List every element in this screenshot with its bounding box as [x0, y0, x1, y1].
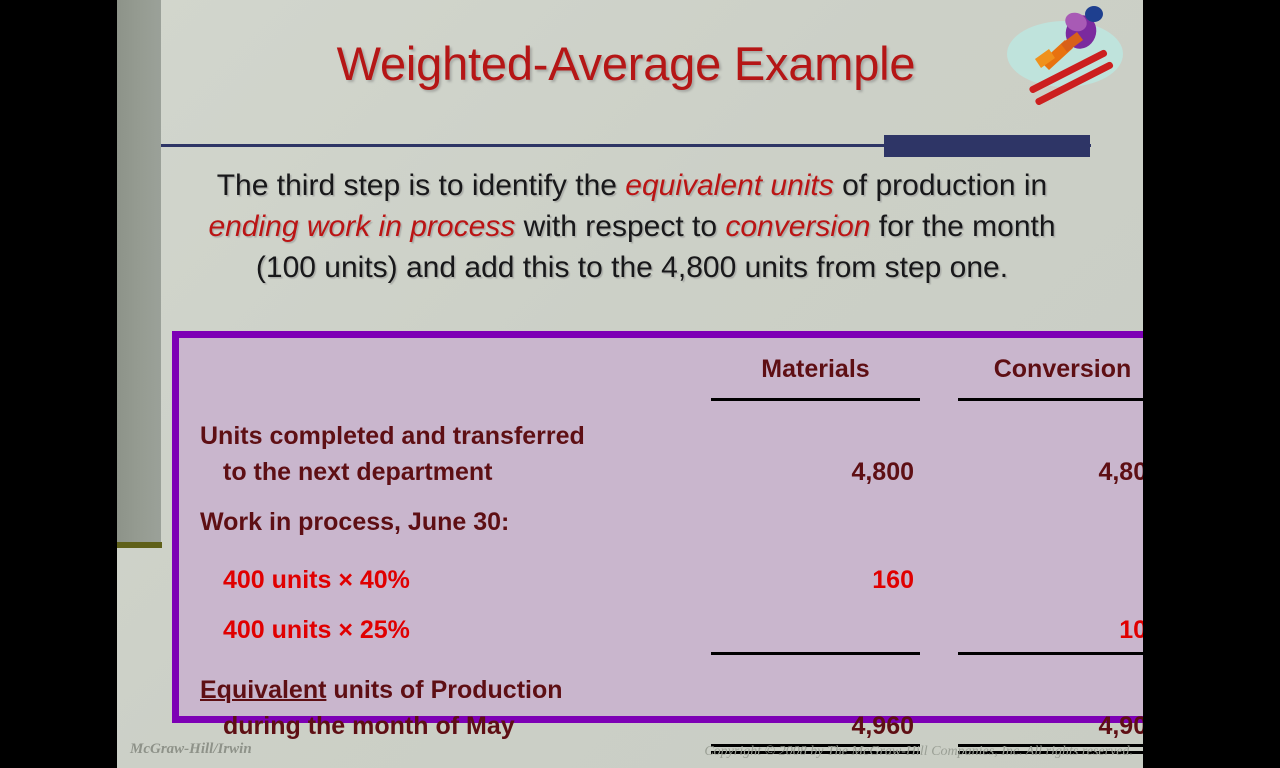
row-label-work-in-process: Work in process, June 30:: [179, 504, 711, 540]
footer-copyright: Copyright © 2008 by The McGraw-Hill Comp…: [704, 744, 1133, 760]
slide-title: Weighted-Average Example: [161, 36, 1091, 91]
row-label-units-completed-line1: Units completed and transferred: [179, 418, 711, 454]
rule-conversion-subtotal: [958, 648, 1143, 658]
subtotal-rule-row: [179, 648, 1143, 658]
header-gap: [920, 338, 958, 394]
body-emphasis-equivalent-units: equivalent units: [625, 169, 833, 202]
spacer: [179, 658, 1143, 672]
rule-materials-subtotal: [711, 648, 920, 658]
slide-viewer: Weighted-Average Example The third step …: [0, 0, 1280, 768]
spacer: [179, 598, 1143, 612]
table-row: to the next department 4,800 4,800: [179, 454, 1143, 490]
body-paragraph: The third step is to identify the equiva…: [177, 165, 1087, 288]
cell-materials-400-units-40pct: 160: [711, 562, 920, 598]
cell-conversion-400-units-25pct: 100: [958, 612, 1143, 648]
total-label-rest: units of Production: [326, 676, 562, 704]
header-accent-block: [884, 135, 1090, 157]
header-rule-row: [179, 394, 1143, 404]
table-total-row: Equivalent units of Production: [179, 672, 1143, 708]
body-seg-3: with respect to: [515, 210, 725, 243]
left-decoration-band: [117, 0, 161, 546]
table-header-row: Materials Conversion: [179, 338, 1143, 394]
equivalent-units-table: Materials Conversion: [179, 338, 1143, 754]
cell-materials-400-units-25pct: [711, 612, 920, 648]
rule-conversion-header: [958, 394, 1143, 404]
spacer: [179, 540, 1143, 562]
total-label-line1: Equivalent units of Production: [179, 672, 711, 708]
rule-materials-header: [711, 394, 920, 404]
cell-materials-units-completed: 4,800: [711, 454, 920, 490]
cell-materials-total: 4,960: [711, 708, 920, 744]
body-seg-2: of production in: [834, 169, 1047, 202]
total-label-line2: during the month of May: [179, 708, 711, 744]
equivalent-units-panel: Materials Conversion: [172, 331, 1143, 723]
column-header-materials: Materials: [711, 338, 920, 394]
row-label-400-units-40pct: 400 units × 40%: [179, 562, 711, 598]
table-row: 400 units × 25% 100: [179, 612, 1143, 648]
row-label-units-completed-line2: to the next department: [179, 454, 711, 490]
body-emphasis-conversion: conversion: [725, 210, 870, 243]
body-emphasis-ending-wip: ending work in process: [208, 210, 515, 243]
cell-conversion-units-completed: 4,800: [958, 454, 1143, 490]
column-header-conversion: Conversion: [958, 338, 1143, 394]
cell-conversion-400-units-40pct: [958, 562, 1143, 598]
footer-publisher: McGraw-Hill/Irwin: [130, 741, 252, 758]
row-label-400-units-25pct: 400 units × 25%: [179, 612, 711, 648]
spacer: [179, 490, 1143, 504]
spacer: [179, 404, 1143, 418]
cell-conversion-total: 4,900: [958, 708, 1143, 744]
table-total-row: during the month of May 4,960 4,900: [179, 708, 1143, 744]
table-row: Work in process, June 30:: [179, 504, 1143, 540]
body-seg-1: The third step is to identify the: [217, 169, 626, 202]
header-blank: [179, 338, 711, 394]
slide-canvas: Weighted-Average Example The third step …: [117, 0, 1143, 768]
left-olive-rule: [117, 542, 162, 548]
table-row: Units completed and transferred: [179, 418, 1143, 454]
total-label-underlined-word: Equivalent: [200, 676, 326, 704]
table-row: 400 units × 40% 160: [179, 562, 1143, 598]
